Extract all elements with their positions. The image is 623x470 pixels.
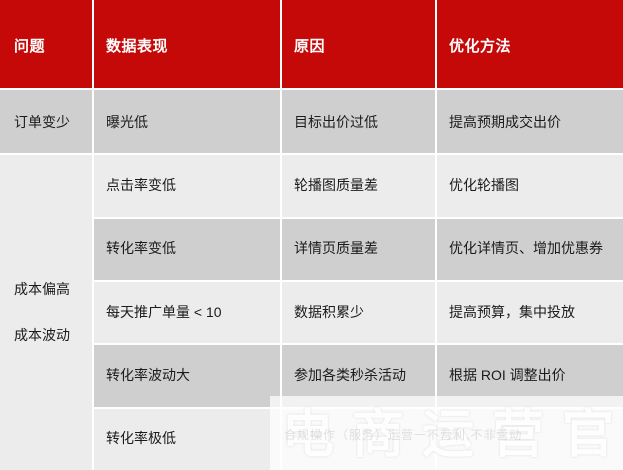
header-label-data: 数据表现 xyxy=(106,35,168,56)
table-header-cell-problem: 问题 xyxy=(0,0,92,90)
table-cell-solution-1: 提高预期成交出价 xyxy=(435,90,623,153)
comparison-table: 问题 数据表现 原因 优化方法 订单变少 成本偏高 成本波动 曝光低 点击率变低 xyxy=(0,0,623,470)
table-header-cell-solution: 优化方法 xyxy=(435,0,623,90)
table-header-cell-cause: 原因 xyxy=(280,0,435,90)
table-cell-cause-4: 数据积累少 xyxy=(280,280,435,343)
table-cell-data-4: 每天推广单量 < 10 xyxy=(92,280,280,343)
table-cell-cause-5: 参加各类秒杀活动 xyxy=(280,343,435,406)
table-cell-problem-1: 订单变少 xyxy=(0,90,92,153)
table-header-row: 问题 数据表现 原因 优化方法 xyxy=(0,0,623,90)
table-cell-problem-merged: 成本偏高 成本波动 xyxy=(0,153,92,470)
cell-text: 转化率波动大 xyxy=(106,365,190,385)
table-column-problem: 订单变少 成本偏高 成本波动 xyxy=(0,90,92,470)
table-body: 订单变少 成本偏高 成本波动 曝光低 点击率变低 转化率变低 每天推广单量 < … xyxy=(0,90,623,470)
table-cell-solution-4: 提高预算，集中投放 xyxy=(435,280,623,343)
header-label-cause: 原因 xyxy=(294,35,325,56)
cell-text: 数据积累少 xyxy=(294,302,364,322)
table-header-cell-data: 数据表现 xyxy=(92,0,280,90)
table-column-cause: 目标出价过低 轮播图质量差 详情页质量差 数据积累少 参加各类秒杀活动 xyxy=(280,90,435,470)
cell-text: 参加各类秒杀活动 xyxy=(294,365,406,385)
cell-text: 优化详情页、增加优惠券 xyxy=(449,238,603,258)
table-cell-cause-6 xyxy=(280,407,435,470)
cell-text: 订单变少 xyxy=(14,112,70,132)
cell-text: 根据 ROI 调整出价 xyxy=(449,365,566,385)
cell-text: 目标出价过低 xyxy=(294,112,378,132)
table-cell-cause-1: 目标出价过低 xyxy=(280,90,435,153)
cell-text: 点击率变低 xyxy=(106,175,176,195)
cell-text: 转化率变低 xyxy=(106,238,176,258)
header-label-problem: 问题 xyxy=(14,35,45,56)
table-cell-data-5: 转化率波动大 xyxy=(92,343,280,406)
cell-text: 详情页质量差 xyxy=(294,238,378,258)
table-cell-data-6: 转化率极低 xyxy=(92,407,280,470)
cell-text: 轮播图质量差 xyxy=(294,175,378,195)
cell-text-line1: 成本偏高 xyxy=(14,279,70,299)
table-cell-data-2: 点击率变低 xyxy=(92,153,280,216)
cell-text: 转化率极低 xyxy=(106,428,176,448)
cell-text: 每天推广单量 < 10 xyxy=(106,302,222,322)
cell-text: 曝光低 xyxy=(106,112,148,132)
cell-text-line2: 成本波动 xyxy=(14,325,70,345)
header-label-solution: 优化方法 xyxy=(449,35,511,56)
table-column-data: 曝光低 点击率变低 转化率变低 每天推广单量 < 10 转化率波动大 转化率极低 xyxy=(92,90,280,470)
table-cell-solution-2: 优化轮播图 xyxy=(435,153,623,216)
cell-text: 提高预算，集中投放 xyxy=(449,302,575,322)
table-cell-solution-3: 优化详情页、增加优惠券 xyxy=(435,217,623,280)
table-cell-cause-3: 详情页质量差 xyxy=(280,217,435,280)
table-cell-solution-6 xyxy=(435,407,623,470)
table-cell-data-1: 曝光低 xyxy=(92,90,280,153)
table-cell-data-3: 转化率变低 xyxy=(92,217,280,280)
cell-text: 提高预期成交出价 xyxy=(449,112,561,132)
cell-text: 优化轮播图 xyxy=(449,175,519,195)
table-cell-solution-5: 根据 ROI 调整出价 xyxy=(435,343,623,406)
table-cell-cause-2: 轮播图质量差 xyxy=(280,153,435,216)
table-column-solution: 提高预期成交出价 优化轮播图 优化详情页、增加优惠券 提高预算，集中投放 根据 … xyxy=(435,90,623,470)
